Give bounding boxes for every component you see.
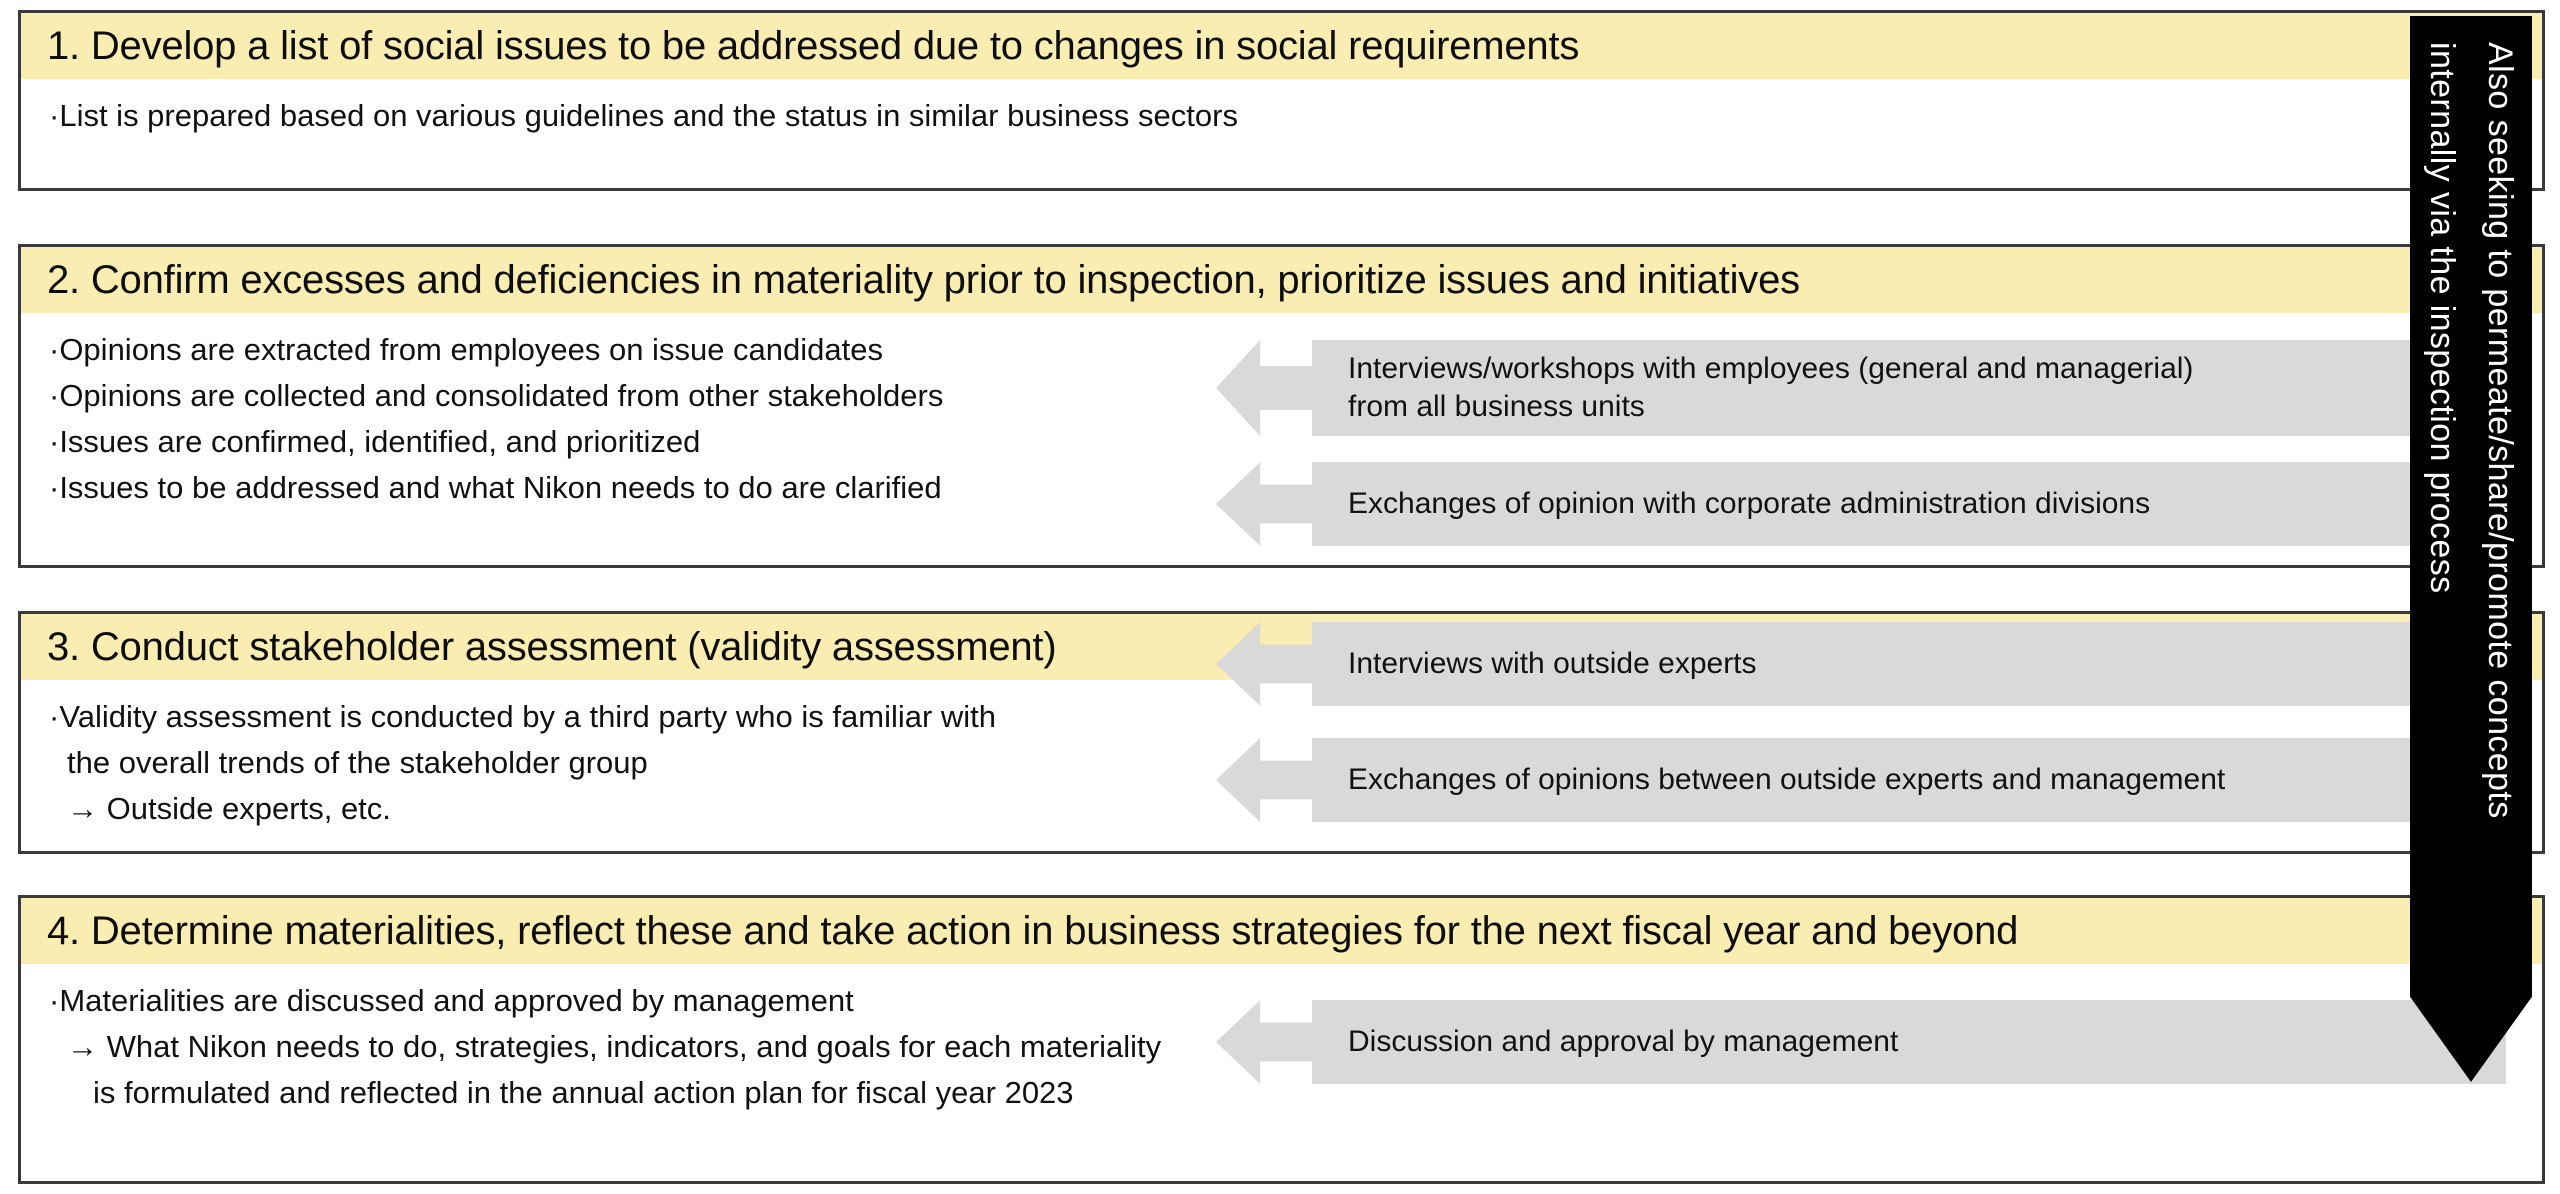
left-arrow-icon bbox=[1216, 340, 1312, 436]
step-1-bullet-1: ·List is prepared based on various guide… bbox=[49, 93, 2542, 139]
banner-label: Also seeking to permeate/share/promote c… bbox=[2413, 16, 2529, 819]
callout-3b-line-1: Exchanges of opinions between outside ex… bbox=[1348, 761, 2506, 799]
callout-exchanges-experts-management: Exchanges of opinions between outside ex… bbox=[1216, 738, 2506, 822]
materiality-process-diagram: 1. Develop a list of social issues to be… bbox=[0, 0, 2560, 1194]
step-box-1: 1. Develop a list of social issues to be… bbox=[18, 10, 2545, 191]
callout-discussion-approval: Discussion and approval by management bbox=[1216, 1000, 2506, 1084]
left-arrow-icon bbox=[1216, 462, 1312, 546]
callout-2b-line-1: Exchanges of opinion with corporate admi… bbox=[1348, 485, 2506, 523]
left-arrow-icon bbox=[1216, 622, 1312, 706]
callout-exchanges-corporate-admin: Exchanges of opinion with corporate admi… bbox=[1216, 462, 2506, 546]
callout-4a-line-1: Discussion and approval by management bbox=[1348, 1023, 2506, 1061]
callout-interviews-workshops: Interviews/workshops with employees (gen… bbox=[1216, 340, 2506, 436]
callout-2a-line-1: Interviews/workshops with employees (gen… bbox=[1348, 350, 2506, 388]
left-arrow-icon bbox=[1216, 1000, 1312, 1084]
step-1-body: ·List is prepared based on various guide… bbox=[21, 79, 2542, 149]
vertical-down-arrow-banner: Also seeking to permeate/share/promote c… bbox=[2410, 16, 2532, 1082]
callout-2a-line-2: from all business units bbox=[1348, 388, 2506, 426]
step-4-header: 4. Determine materialities, reflect thes… bbox=[21, 898, 2542, 964]
left-arrow-icon bbox=[1216, 738, 1312, 822]
callout-3a-line-1: Interviews with outside experts bbox=[1348, 645, 2506, 683]
callout-body: Exchanges of opinion with corporate admi… bbox=[1312, 462, 2506, 546]
callout-interviews-outside-experts: Interviews with outside experts bbox=[1216, 622, 2506, 706]
callout-body: Interviews/workshops with employees (gen… bbox=[1312, 340, 2506, 436]
callout-body: Exchanges of opinions between outside ex… bbox=[1312, 738, 2506, 822]
step-1-header: 1. Develop a list of social issues to be… bbox=[21, 13, 2542, 79]
callout-body: Interviews with outside experts bbox=[1312, 622, 2506, 706]
callout-body: Discussion and approval by management bbox=[1312, 1000, 2506, 1084]
step-2-header: 2. Confirm excesses and deficiencies in … bbox=[21, 247, 2542, 313]
